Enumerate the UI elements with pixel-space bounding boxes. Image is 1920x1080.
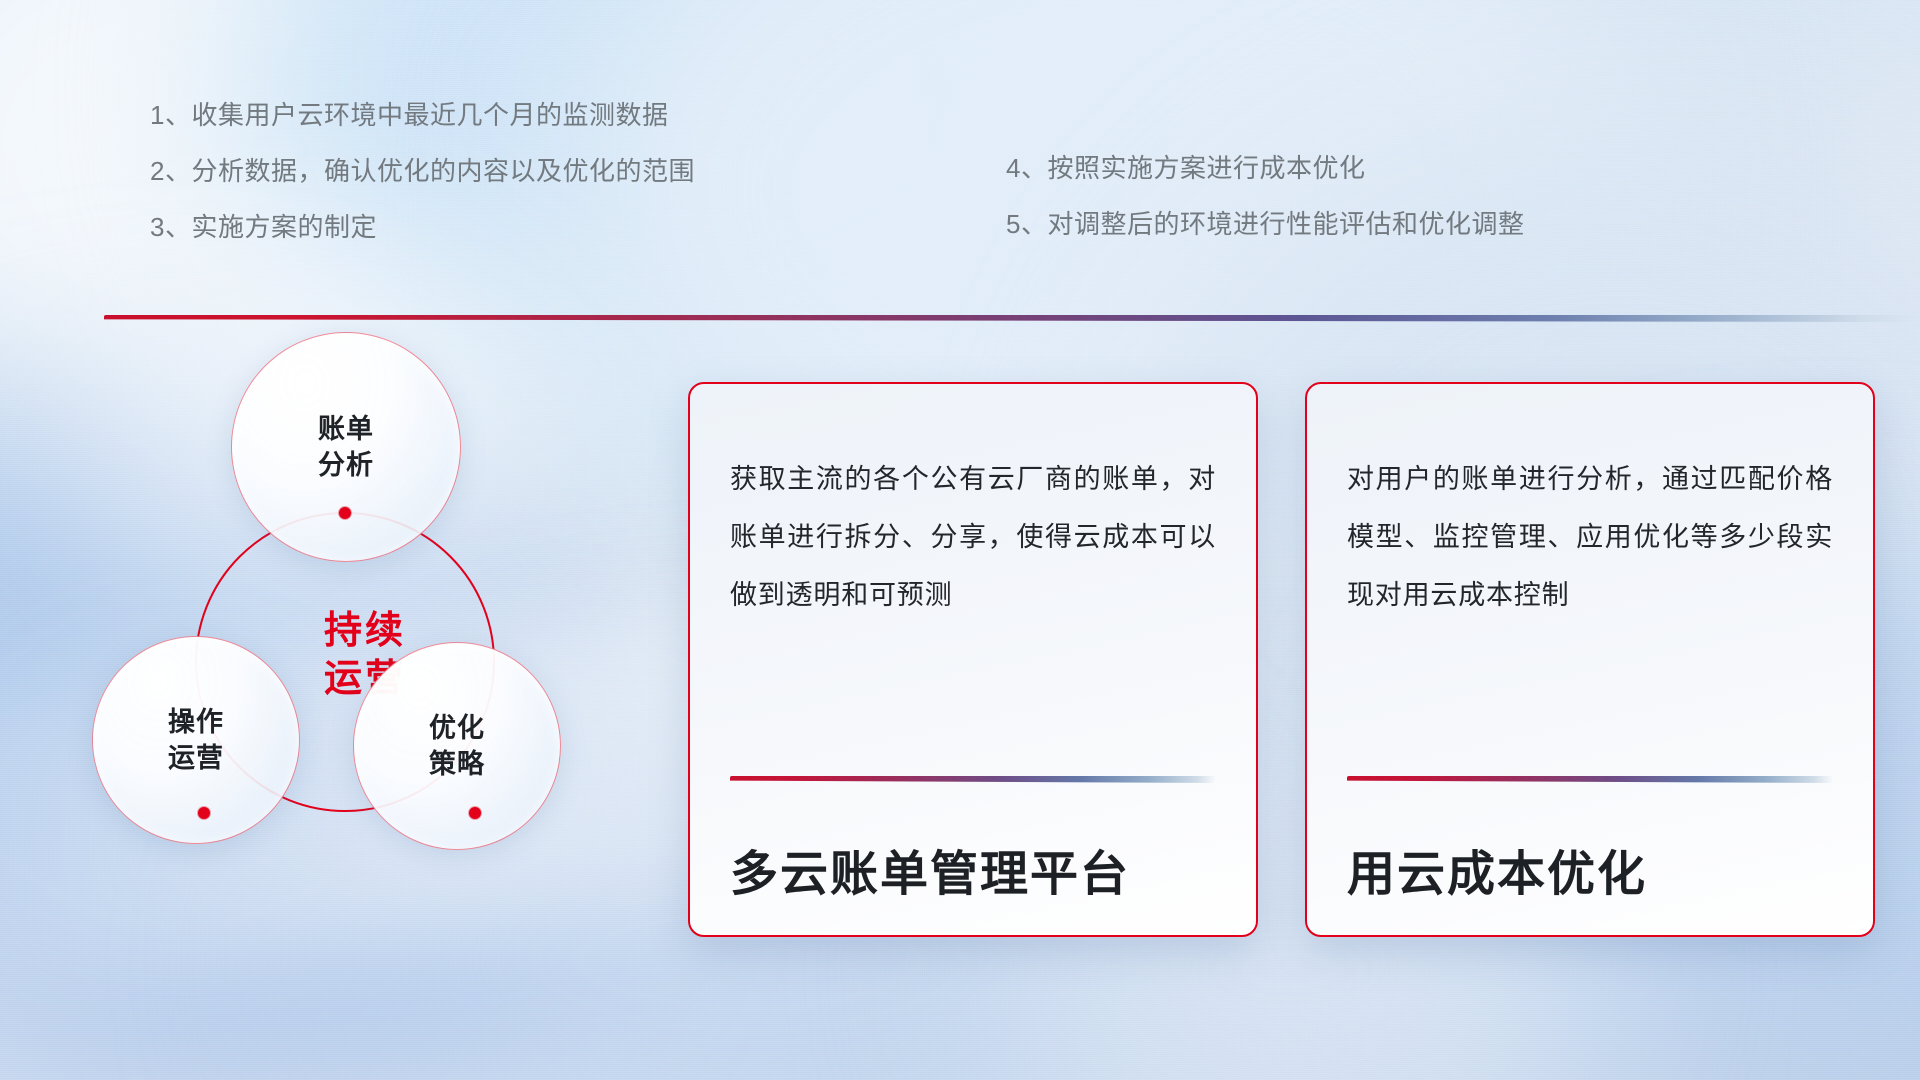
list-item-number: 2、 bbox=[150, 158, 191, 184]
list-item-number: 5、 bbox=[1006, 211, 1047, 237]
card-body-text: 获取主流的各个公有云厂商的账单，对账单进行拆分、分享，使得云成本可以做到透明和可… bbox=[730, 450, 1216, 624]
venn-bubble-line-2: 运营 bbox=[168, 740, 224, 776]
list-item-label: 分析数据，确认优化的内容以及优化的范围 bbox=[191, 158, 695, 184]
list-item-label: 实施方案的制定 bbox=[191, 214, 377, 240]
feature-card-multicloud-billing[interactable]: 获取主流的各个公有云厂商的账单，对账单进行拆分、分享，使得云成本可以做到透明和可… bbox=[688, 382, 1258, 937]
card-body-text: 对用户的账单进行分析，通过匹配价格模型、监控管理、应用优化等多少段实现对用云成本… bbox=[1347, 450, 1833, 624]
list-item: 1、 收集用户云环境中最近几个月的监测数据 bbox=[150, 102, 695, 128]
venn-node-dot-icon bbox=[339, 507, 351, 519]
card-title: 用云成本优化 bbox=[1347, 834, 1647, 904]
list-item: 5、 对调整后的环境进行性能评估和优化调整 bbox=[1006, 211, 1524, 237]
list-item: 3、 实施方案的制定 bbox=[150, 214, 695, 240]
venn-bubble-line-1: 账单 bbox=[318, 411, 374, 447]
venn-bubble-line-2: 策略 bbox=[429, 746, 485, 782]
list-item: 4、 按照实施方案进行成本优化 bbox=[1006, 155, 1524, 181]
venn-node-dot-icon bbox=[469, 807, 481, 819]
section-divider-rule bbox=[104, 315, 1916, 322]
steps-list-right: 4、 按照实施方案进行成本优化 5、 对调整后的环境进行性能评估和优化调整 bbox=[1006, 155, 1524, 267]
list-item: 2、 分析数据，确认优化的内容以及优化的范围 bbox=[150, 158, 695, 184]
venn-bubble-billing-analysis[interactable]: 账单 分析 bbox=[231, 332, 461, 562]
venn-bubble-optimization-strategy[interactable]: 优化 策略 bbox=[353, 642, 561, 850]
venn-node-dot-icon bbox=[198, 807, 210, 819]
list-item-number: 1、 bbox=[150, 102, 191, 128]
list-item-number: 4、 bbox=[1006, 155, 1047, 181]
venn-bubble-operations[interactable]: 操作 运营 bbox=[92, 636, 300, 844]
card-divider bbox=[1347, 776, 1833, 783]
venn-diagram: 持续 运营 账单 分析 操作 运营 优化 策略 bbox=[100, 352, 630, 932]
list-item-number: 3、 bbox=[150, 214, 191, 240]
list-item-label: 对调整后的环境进行性能评估和优化调整 bbox=[1047, 211, 1524, 237]
venn-bubble-line-1: 优化 bbox=[429, 710, 485, 746]
card-title: 多云账单管理平台 bbox=[730, 834, 1130, 904]
steps-list-left: 1、 收集用户云环境中最近几个月的监测数据 2、 分析数据，确认优化的内容以及优… bbox=[150, 102, 695, 270]
venn-bubble-line-1: 操作 bbox=[168, 704, 224, 740]
card-divider bbox=[730, 776, 1216, 783]
venn-bubble-line-2: 分析 bbox=[318, 447, 374, 483]
feature-card-cloud-cost-optimization[interactable]: 对用户的账单进行分析，通过匹配价格模型、监控管理、应用优化等多少段实现对用云成本… bbox=[1305, 382, 1875, 937]
list-item-label: 按照实施方案进行成本优化 bbox=[1047, 155, 1365, 181]
list-item-label: 收集用户云环境中最近几个月的监测数据 bbox=[191, 102, 668, 128]
